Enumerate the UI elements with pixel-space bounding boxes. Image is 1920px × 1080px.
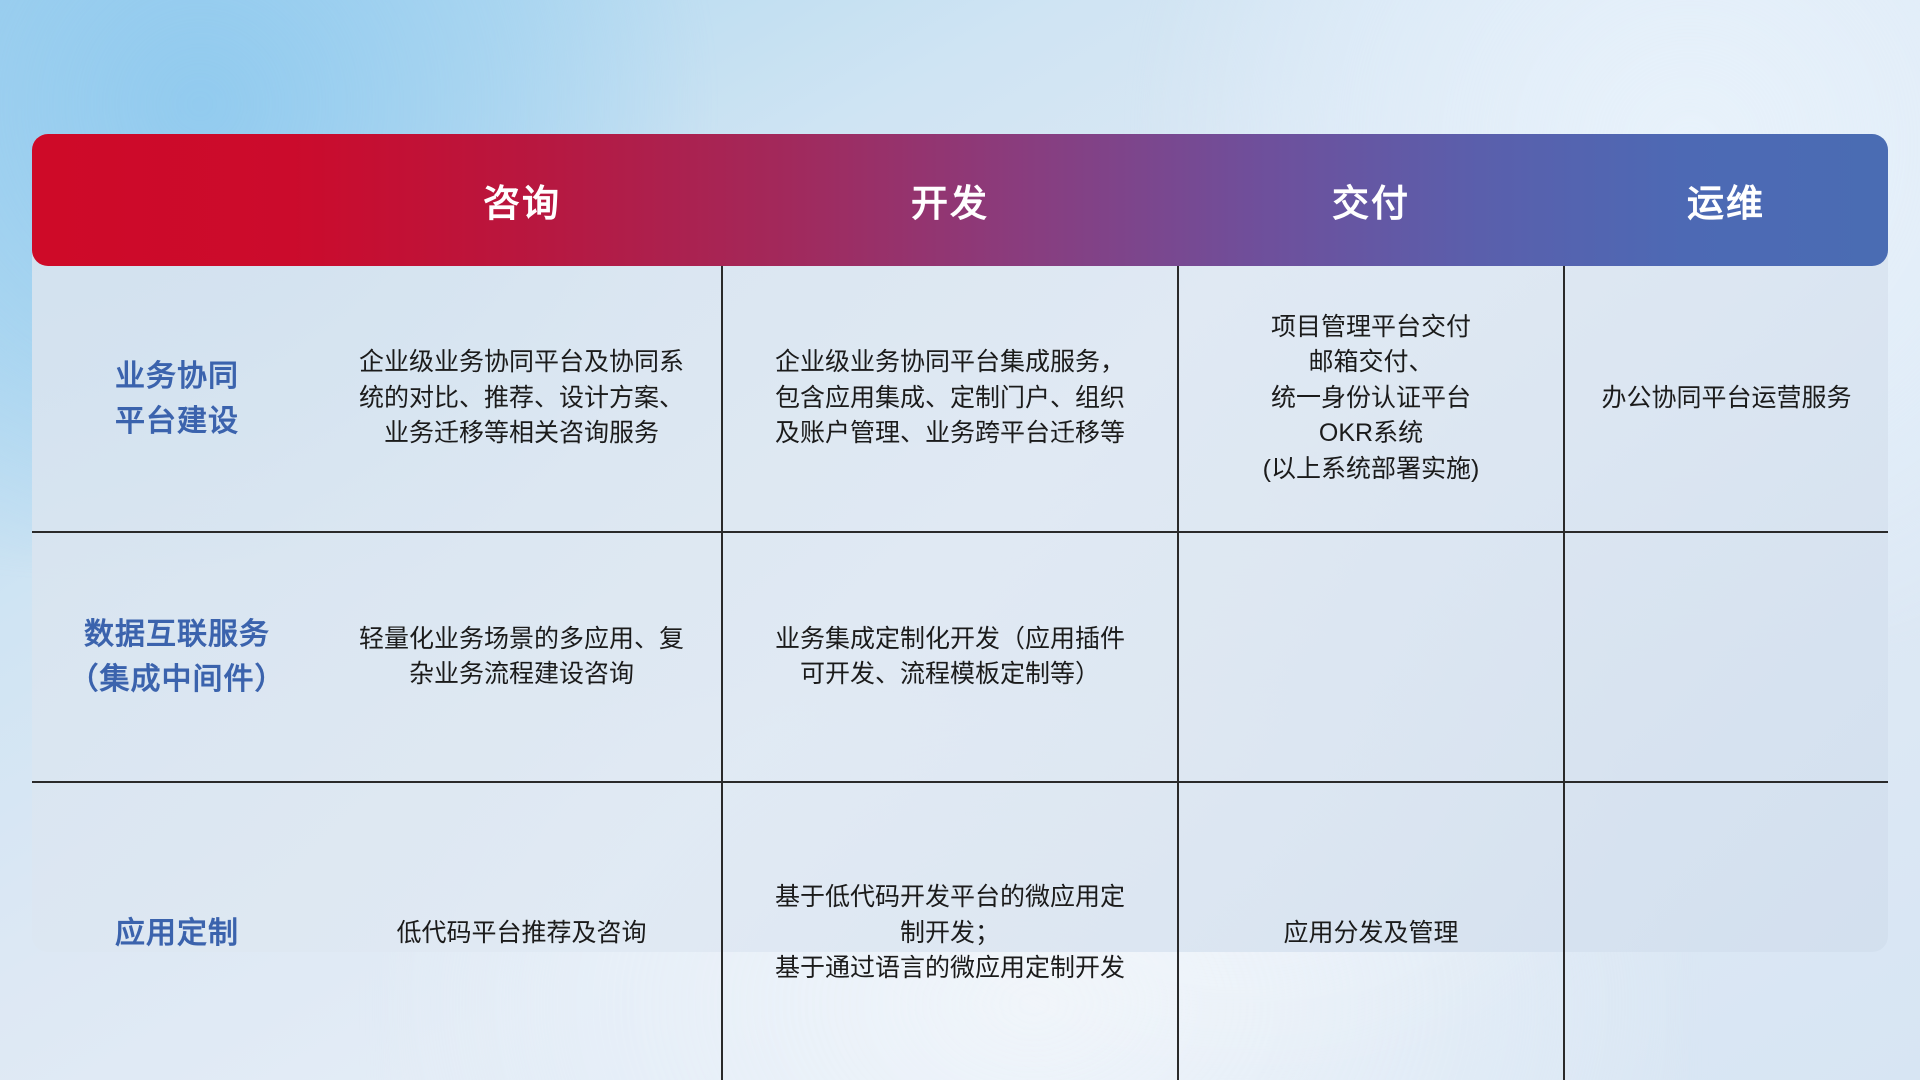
- cell-delivery-row2: [1178, 532, 1564, 782]
- cell-development-row2: 业务集成定制化开发（应用插件 可开发、流程模板定制等）: [722, 532, 1178, 782]
- cell-operations-row1: 办公协同平台运营服务: [1564, 266, 1888, 532]
- cell-consulting-row3: 低代码平台推荐及咨询: [322, 782, 722, 1080]
- cell-operations-row3: [1564, 782, 1888, 1080]
- cell-delivery-row3: 应用分发及管理: [1178, 782, 1564, 1080]
- column-header-consulting-label: 咨询: [483, 183, 561, 224]
- column-header-operations: 运维: [1564, 134, 1888, 266]
- row-label-app-customization: 应用定制: [32, 782, 322, 1080]
- table-row: 业务协同 平台建设 企业级业务协同平台及协同系 统的对比、推荐、设计方案、 业务…: [32, 266, 1888, 532]
- cell-development-row3: 基于低代码开发平台的微应用定 制开发； 基于通过语言的微应用定制开发: [722, 782, 1178, 1080]
- row-label-data-interconnect: 数据互联服务 （集成中间件）: [32, 532, 322, 782]
- column-header-delivery: 交付: [1178, 134, 1564, 266]
- cell-consulting-row2: 轻量化业务场景的多应用、复 杂业务流程建设咨询: [322, 532, 722, 782]
- column-header-development-label: 开发: [911, 183, 989, 224]
- column-header-delivery-label: 交付: [1332, 183, 1410, 224]
- column-header-category: 服务类别: [32, 134, 322, 266]
- header-row: 服务类别 咨询 开发 交付 运维: [32, 134, 1888, 266]
- cell-consulting-row1: 企业级业务协同平台及协同系 统的对比、推荐、设计方案、 业务迁移等相关咨询服务: [322, 266, 722, 532]
- service-matrix-container: 服务类别 咨询 开发 交付 运维 业务协同 平台建设 企业级业务协同平台及协: [32, 134, 1888, 952]
- table-header: 服务类别 咨询 开发 交付 运维: [32, 134, 1888, 266]
- row-label-business-collaboration: 业务协同 平台建设: [32, 266, 322, 532]
- cell-operations-row2: [1564, 532, 1888, 782]
- column-header-operations-label: 运维: [1687, 183, 1765, 224]
- table-body: 业务协同 平台建设 企业级业务协同平台及协同系 统的对比、推荐、设计方案、 业务…: [32, 266, 1888, 1080]
- cell-development-row1: 企业级业务协同平台集成服务， 包含应用集成、定制门户、组织 及账户管理、业务跨平…: [722, 266, 1178, 532]
- cell-delivery-row1: 项目管理平台交付 邮箱交付、 统一身份认证平台 OKR系统 (以上系统部署实施): [1178, 266, 1564, 532]
- column-header-consulting: 咨询: [322, 134, 722, 266]
- column-header-development: 开发: [722, 134, 1178, 266]
- service-category-table: 服务类别 咨询 开发 交付 运维 业务协同 平台建设 企业级业务协同平台及协: [32, 134, 1888, 1080]
- table-row: 数据互联服务 （集成中间件） 轻量化业务场景的多应用、复 杂业务流程建设咨询 业…: [32, 532, 1888, 782]
- table-row: 应用定制 低代码平台推荐及咨询 基于低代码开发平台的微应用定 制开发； 基于通过…: [32, 782, 1888, 1080]
